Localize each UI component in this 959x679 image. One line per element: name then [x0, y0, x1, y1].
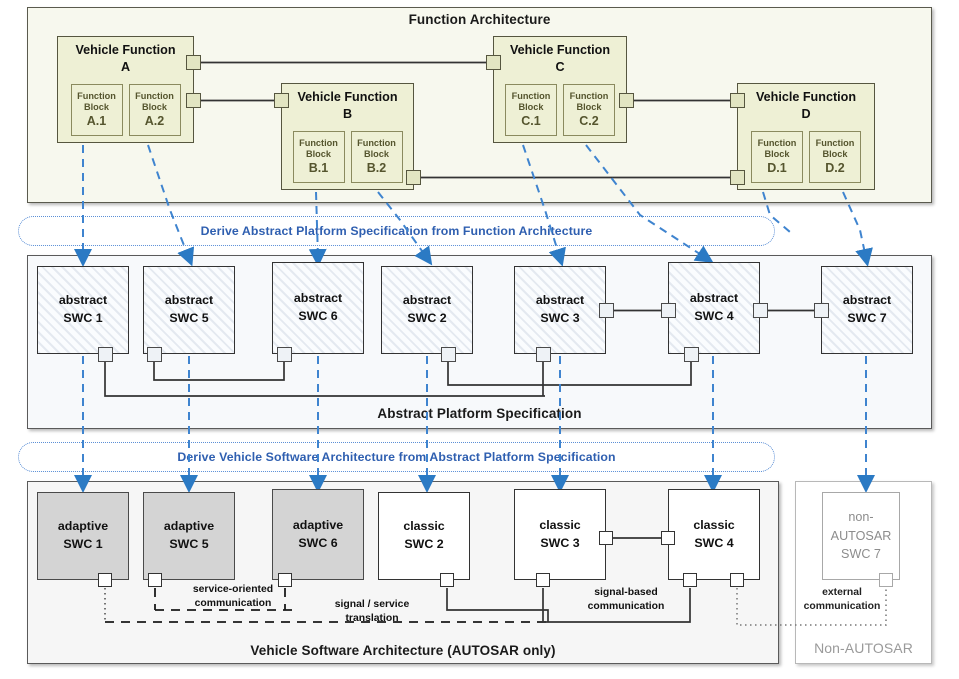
fb-b2-l1: Function	[357, 138, 396, 149]
sbc-line2: communication	[562, 600, 690, 614]
vf-b-line1: Vehicle Function	[282, 89, 413, 106]
vehicle-function-d-label: Vehicle Function D	[738, 84, 874, 122]
fb-c1-l3: C.1	[521, 114, 540, 128]
classic-swc-3[interactable]: classic SWC 3	[514, 489, 606, 580]
classic-swc-3-label: classic SWC 3	[539, 517, 580, 553]
non-autosar-swc-7[interactable]: non- AUTOSAR SWC 7	[822, 492, 900, 580]
soc-line2: communication	[168, 597, 298, 611]
classic-swc-3-l2: SWC 3	[540, 536, 579, 550]
port-classic-swc-4-bottom-right[interactable]	[730, 573, 744, 587]
abstract-swc-2-l1: abstract	[403, 293, 451, 307]
non-autosar-swc-7-l1: non-	[848, 510, 873, 524]
fb-a2-l3: A.2	[145, 114, 164, 128]
abstract-swc-4-l2: SWC 4	[694, 309, 733, 323]
port-abstract-swc-4-right[interactable]	[753, 303, 768, 318]
abstract-swc-7-l1: abstract	[843, 293, 891, 307]
abstract-swc-4[interactable]: abstract SWC 4	[668, 262, 760, 354]
fb-a1-l2: Block	[84, 102, 109, 113]
port-abstract-swc-6-bottom[interactable]	[277, 347, 292, 362]
abstract-swc-1[interactable]: abstract SWC 1	[37, 266, 129, 354]
wire-aswc2-bus	[448, 362, 545, 385]
port-abstract-swc-3-right[interactable]	[599, 303, 614, 318]
fb-a1-l3: A.1	[87, 114, 106, 128]
port-classic-swc-4-left[interactable]	[661, 531, 675, 545]
port-abstract-swc-5-bottom[interactable]	[147, 347, 162, 362]
adaptive-swc-6-label: adaptive SWC 6	[293, 517, 343, 553]
vf-b-line2: B	[282, 106, 413, 123]
function-block-a1[interactable]: Function Block A.1	[71, 84, 123, 136]
abstract-swc-1-l1: abstract	[59, 293, 107, 307]
fb-b2-l2: Block	[364, 149, 389, 160]
wire-aswc1-bus	[105, 362, 545, 396]
arrow-d1-to-aswc4b	[763, 192, 790, 232]
port-vf-c-left[interactable]	[486, 55, 501, 70]
adaptive-swc-5-l1: adaptive	[164, 519, 214, 533]
classic-swc-2[interactable]: classic SWC 2	[378, 492, 470, 580]
adaptive-swc-5-label: adaptive SWC 5	[164, 518, 214, 554]
abstract-swc-3-l2: SWC 3	[540, 311, 579, 325]
abstract-swc-7[interactable]: abstract SWC 7	[821, 266, 913, 354]
fb-b1-l3: B.1	[309, 161, 328, 175]
wire-classic2-bus	[447, 588, 548, 622]
arrow-a2-to-aswc5	[148, 145, 189, 258]
port-abstract-swc-4-bottom[interactable]	[684, 347, 699, 362]
arrow-b1-to-aswc6	[316, 192, 318, 258]
abstract-swc-3[interactable]: abstract SWC 3	[514, 266, 606, 354]
service-oriented-communication-label: service-oriented communication	[168, 583, 298, 610]
vf-c-line2: C	[494, 59, 626, 76]
non-autosar-swc-7-l2: AUTOSAR	[831, 529, 892, 543]
abstract-swc-2-l2: SWC 2	[407, 311, 446, 325]
adaptive-swc-1-l2: SWC 1	[63, 537, 102, 551]
vf-a-line2: A	[58, 59, 193, 76]
function-block-d2[interactable]: Function Block D.2	[809, 131, 861, 183]
fb-d2-l2: Block	[822, 149, 847, 160]
vf-d-line1: Vehicle Function	[738, 89, 874, 106]
sst-line2: translation	[312, 612, 432, 626]
abstract-swc-5-label: abstract SWC 5	[165, 292, 213, 328]
non-autosar-swc-7-label: non- AUTOSAR SWC 7	[831, 508, 892, 565]
fb-c1-l1: Function	[512, 91, 551, 102]
abstract-swc-7-l2: SWC 7	[847, 311, 886, 325]
port-vf-a-top[interactable]	[186, 55, 201, 70]
diagram-canvas: Function Architecture Vehicle Function A…	[0, 0, 959, 679]
fb-c1-l2: Block	[518, 102, 543, 113]
vehicle-function-d[interactable]: Vehicle Function D Function Block D.1 Fu…	[737, 83, 875, 190]
adaptive-swc-6[interactable]: adaptive SWC 6	[272, 489, 364, 580]
fb-a2-l1: Function	[135, 91, 174, 102]
vf-c-blocks: Function Block C.1 Function Block C.2	[494, 84, 626, 136]
fb-d1-l3: D.1	[767, 161, 786, 175]
port-abstract-swc-2-bottom[interactable]	[441, 347, 456, 362]
port-abstract-swc-4-left[interactable]	[661, 303, 676, 318]
abstract-swc-7-label: abstract SWC 7	[843, 292, 891, 328]
classic-swc-3-l1: classic	[539, 518, 580, 532]
sst-line1: signal / service	[312, 598, 432, 612]
sbc-line1: signal-based	[562, 586, 690, 600]
fb-c2-l2: Block	[576, 102, 601, 113]
fb-a1-l1: Function	[77, 91, 116, 102]
vf-a-blocks: Function Block A.1 Function Block A.2	[58, 84, 193, 136]
adaptive-swc-6-l2: SWC 6	[298, 536, 337, 550]
function-block-b2[interactable]: Function Block B.2	[351, 131, 403, 183]
adaptive-swc-5-l2: SWC 5	[169, 537, 208, 551]
arrow-c2-to-aswc4	[586, 145, 706, 258]
classic-swc-4-l1: classic	[693, 518, 734, 532]
abstract-swc-5[interactable]: abstract SWC 5	[143, 266, 235, 354]
function-block-a2[interactable]: Function Block A.2	[129, 84, 181, 136]
abstract-swc-6[interactable]: abstract SWC 6	[272, 262, 364, 354]
fb-d1-l1: Function	[758, 138, 797, 149]
vehicle-function-c-label: Vehicle Function C	[494, 37, 626, 75]
vehicle-function-c[interactable]: Vehicle Function C Function Block C.1 Fu…	[493, 36, 627, 143]
classic-swc-4-label: classic SWC 4	[693, 517, 734, 553]
classic-swc-2-l1: classic	[403, 519, 444, 533]
abstract-swc-3-label: abstract SWC 3	[536, 292, 584, 328]
function-block-c1[interactable]: Function Block C.1	[505, 84, 557, 136]
function-block-c2[interactable]: Function Block C.2	[563, 84, 615, 136]
adaptive-swc-5[interactable]: adaptive SWC 5	[143, 492, 235, 580]
fb-d1-l2: Block	[764, 149, 789, 160]
abstract-swc-1-l2: SWC 1	[63, 311, 102, 325]
vf-d-line2: D	[738, 106, 874, 123]
classic-swc-4[interactable]: classic SWC 4	[668, 489, 760, 580]
classic-swc-2-label: classic SWC 2	[403, 518, 444, 554]
vf-a-line1: Vehicle Function	[58, 42, 193, 59]
abstract-swc-2[interactable]: abstract SWC 2	[381, 266, 473, 354]
port-abstract-swc-7-left[interactable]	[814, 303, 829, 318]
classic-swc-4-l2: SWC 4	[694, 536, 733, 550]
port-adaptive-swc-1-bottom[interactable]	[98, 573, 112, 587]
adaptive-swc-1-label: adaptive SWC 1	[58, 518, 108, 554]
port-adaptive-swc-6-bottom[interactable]	[278, 573, 292, 587]
arrow-c1-to-aswc3	[523, 145, 560, 258]
port-vf-c-right[interactable]	[619, 93, 634, 108]
vf-b-blocks: Function Block B.1 Function Block B.2	[282, 131, 413, 183]
vehicle-function-b[interactable]: Vehicle Function B Function Block B.1 Fu…	[281, 83, 414, 190]
wire-aswc4-bus	[545, 362, 691, 385]
port-adaptive-swc-5-bottom[interactable]	[148, 573, 162, 587]
port-vf-b-left[interactable]	[274, 93, 289, 108]
port-non-autosar-swc-7-bottom[interactable]	[879, 573, 893, 587]
abstract-swc-6-l2: SWC 6	[298, 309, 337, 323]
vehicle-function-a[interactable]: Vehicle Function A Function Block A.1 Fu…	[57, 36, 194, 143]
fb-b2-l3: B.2	[367, 161, 386, 175]
port-classic-swc-3-right[interactable]	[599, 531, 613, 545]
fb-c2-l1: Function	[570, 91, 609, 102]
fb-b1-l2: Block	[306, 149, 331, 160]
abstract-swc-5-l2: SWC 5	[169, 311, 208, 325]
abstract-swc-4-label: abstract SWC 4	[690, 290, 738, 326]
ec-line2: communication	[783, 600, 901, 614]
fb-a2-l2: Block	[142, 102, 167, 113]
abstract-swc-6-label: abstract SWC 6	[294, 290, 342, 326]
abstract-swc-4-l1: abstract	[690, 291, 738, 305]
vf-d-blocks: Function Block D.1 Function Block D.2	[738, 131, 874, 183]
vf-c-line1: Vehicle Function	[494, 42, 626, 59]
port-vf-d-topleft[interactable]	[730, 93, 745, 108]
adaptive-swc-1[interactable]: adaptive SWC 1	[37, 492, 129, 580]
vehicle-function-a-label: Vehicle Function A	[58, 37, 193, 75]
signal-based-communication-label: signal-based communication	[562, 586, 690, 613]
abstract-swc-5-l1: abstract	[165, 293, 213, 307]
fb-c2-l3: C.2	[579, 114, 598, 128]
vehicle-function-b-label: Vehicle Function B	[282, 84, 413, 122]
abstract-swc-2-label: abstract SWC 2	[403, 292, 451, 328]
adaptive-swc-6-l1: adaptive	[293, 518, 343, 532]
ec-line1: external	[783, 586, 901, 600]
abstract-swc-3-l1: abstract	[536, 293, 584, 307]
abstract-swc-6-l1: abstract	[294, 291, 342, 305]
port-vf-d-bottomleft[interactable]	[730, 170, 745, 185]
classic-swc-2-l2: SWC 2	[404, 537, 443, 551]
port-classic-swc-3-bottom[interactable]	[536, 573, 550, 587]
port-vf-b-right[interactable]	[406, 170, 421, 185]
function-block-b1[interactable]: Function Block B.1	[293, 131, 345, 183]
fb-d2-l3: D.2	[825, 161, 844, 175]
port-abstract-swc-1-bottom[interactable]	[98, 347, 113, 362]
external-communication-label: external communication	[783, 586, 901, 613]
fb-d2-l1: Function	[816, 138, 855, 149]
port-abstract-swc-3-bottom[interactable]	[536, 347, 551, 362]
port-classic-swc-4-bottom-left[interactable]	[683, 573, 697, 587]
fb-b1-l1: Function	[299, 138, 338, 149]
non-autosar-swc-7-l3: SWC 7	[841, 547, 881, 561]
port-classic-swc-2-bottom[interactable]	[440, 573, 454, 587]
wire-aswc5-aswc6	[154, 362, 284, 380]
abstract-swc-1-label: abstract SWC 1	[59, 292, 107, 328]
signal-service-translation-label: signal / service translation	[312, 598, 432, 625]
function-block-d1[interactable]: Function Block D.1	[751, 131, 803, 183]
port-vf-a-bottom[interactable]	[186, 93, 201, 108]
arrow-b2-to-aswc2	[378, 192, 427, 258]
arrow-d2-to-aswc7	[843, 192, 866, 258]
adaptive-swc-1-l1: adaptive	[58, 519, 108, 533]
